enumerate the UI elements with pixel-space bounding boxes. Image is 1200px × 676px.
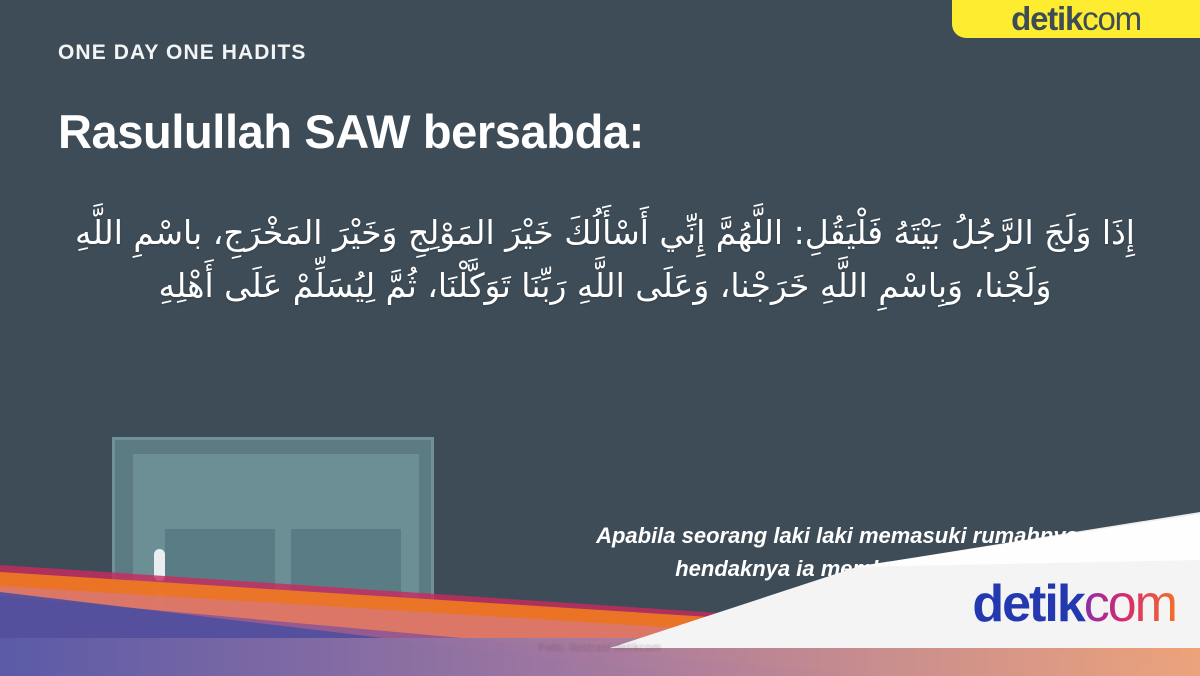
photo-caption: Foto: Ilustrasi detikcom (0, 642, 1200, 654)
slide-canvas: detikcom Foto: Ilustrasi detikcom detikc… (0, 0, 1200, 676)
brand-watermark-bottom: detikcom (972, 578, 1176, 630)
brand-watermark-prefix: detik (972, 575, 1083, 633)
brand-badge-top[interactable]: detikcom (952, 0, 1200, 38)
door-illustration (112, 437, 434, 676)
door-handle-icon (154, 549, 165, 581)
door-frame (112, 437, 434, 676)
brand-badge-prefix: detik (1011, 0, 1082, 37)
brand-badge-text: detikcom (1011, 2, 1141, 35)
kicker-label: ONE DAY ONE HADITS (58, 41, 307, 65)
page-title: Rasulullah SAW bersabda: (58, 104, 644, 159)
door-lock-icon (154, 590, 165, 612)
hadith-arabic-text: إِذَا وَلَجَ الرَّجُلُ بَيْتَهُ فَلْيَقُ… (70, 206, 1140, 313)
brand-watermark-suffix: com (1084, 575, 1176, 633)
brand-badge-suffix: com (1082, 0, 1141, 37)
